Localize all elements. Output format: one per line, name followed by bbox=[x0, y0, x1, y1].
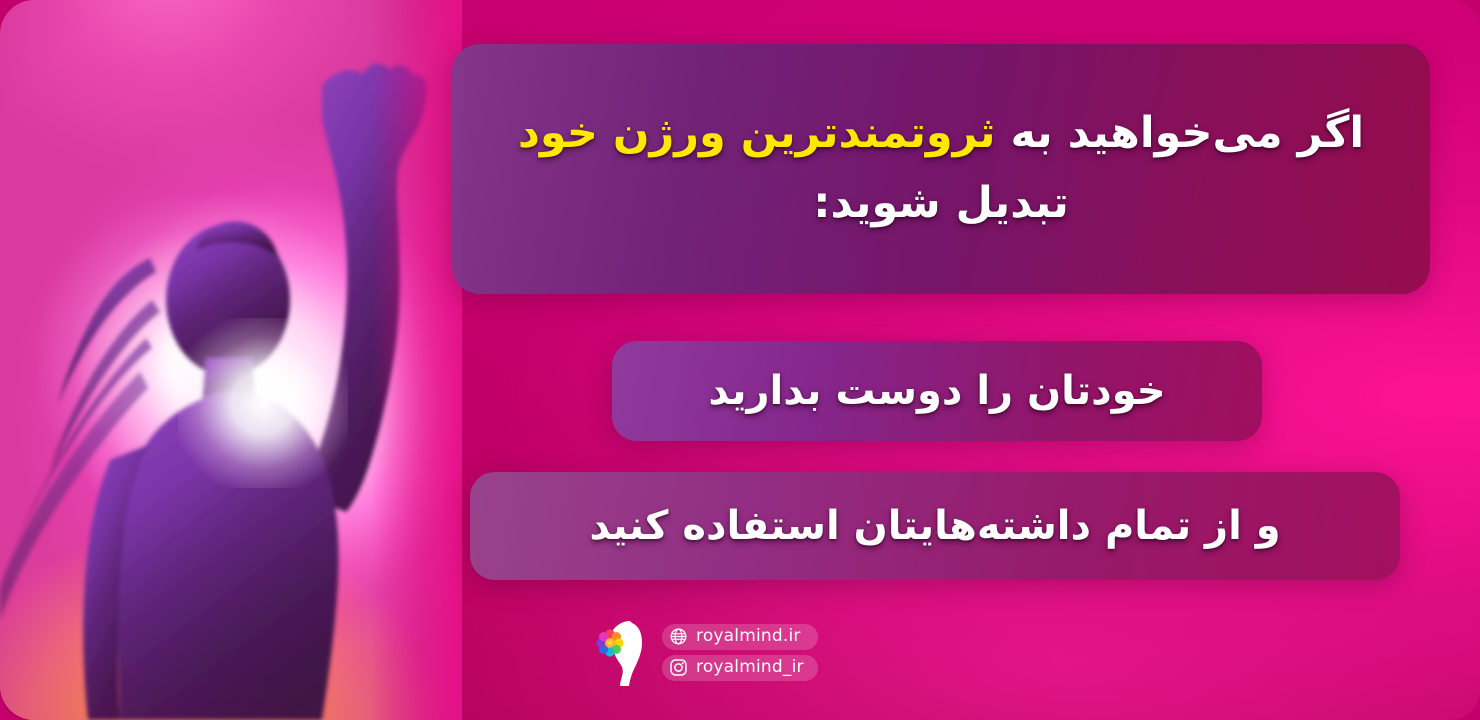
point-two-text: و از تمام داشته‌هایتان استفاده کنید bbox=[470, 497, 1400, 555]
brand-footer: royalmind.ir royalmind_ir bbox=[596, 617, 818, 687]
headline-card: اگر می‌خواهید به ثروتمندترین ورژن خود تب… bbox=[452, 44, 1430, 294]
point-one-text: خودتان را دوست بدارید bbox=[612, 362, 1262, 420]
instagram-icon bbox=[669, 658, 688, 677]
headline-text: اگر می‌خواهید به ثروتمندترین ورژن خود تب… bbox=[452, 99, 1430, 238]
website-label: royalmind.ir bbox=[696, 628, 801, 646]
point-two-card: و از تمام داشته‌هایتان استفاده کنید bbox=[470, 472, 1400, 580]
headline-line2: تبدیل شوید: bbox=[813, 178, 1068, 228]
website-pill[interactable]: royalmind.ir bbox=[662, 624, 818, 650]
photo-right-edge-blend bbox=[372, 0, 462, 720]
instagram-label: royalmind_ir bbox=[696, 659, 804, 677]
point-one-card: خودتان را دوست بدارید bbox=[612, 341, 1262, 441]
instagram-pill[interactable]: royalmind_ir bbox=[662, 655, 818, 681]
headline-line1-accent: ثروتمندترین ورژن خود bbox=[518, 108, 996, 158]
headline-line1-prefix: اگر می‌خواهید به bbox=[995, 108, 1364, 158]
royalmind-head-brain-logo bbox=[596, 617, 652, 687]
hero-photo bbox=[0, 0, 462, 720]
globe-icon bbox=[669, 627, 688, 646]
social-card-canvas: اگر می‌خواهید به ثروتمندترین ورژن خود تب… bbox=[0, 0, 1480, 720]
brand-pill-stack: royalmind.ir royalmind_ir bbox=[662, 624, 818, 681]
